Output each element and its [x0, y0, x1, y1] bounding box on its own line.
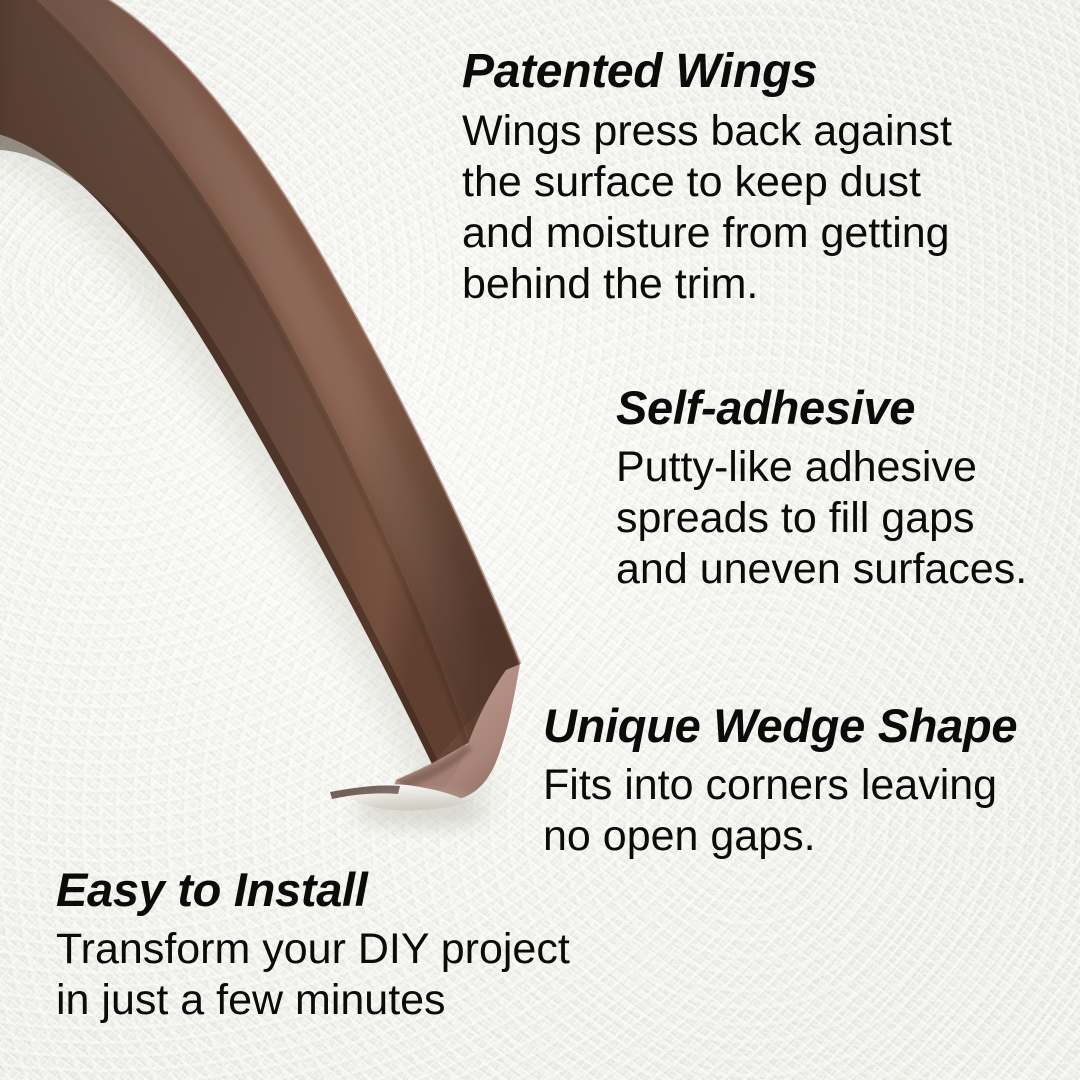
callout-heading-patented-wings: Patented Wings — [462, 44, 982, 100]
callout-body-self-adhesive: Putty-like adhesive spreads to fill gaps… — [616, 442, 1046, 595]
callout-self-adhesive: Self-adhesive Putty-like adhesive spread… — [616, 380, 1046, 595]
callout-patented-wings: Patented Wings Wings press back against … — [462, 44, 982, 310]
callout-heading-easy-to-install: Easy to Install — [56, 862, 576, 918]
callout-heading-unique-wedge-shape: Unique Wedge Shape — [543, 698, 1063, 754]
callout-easy-to-install: Easy to Install Transform your DIY proje… — [56, 862, 576, 1026]
callout-unique-wedge-shape: Unique Wedge Shape Fits into corners lea… — [543, 698, 1063, 862]
callout-heading-self-adhesive: Self-adhesive — [616, 380, 1046, 436]
callout-body-patented-wings: Wings press back against the surface to … — [462, 106, 982, 310]
callout-body-unique-wedge-shape: Fits into corners leaving no open gaps. — [543, 760, 1063, 862]
callout-body-easy-to-install: Transform your DIY project in just a few… — [56, 924, 576, 1026]
infographic-canvas: Patented Wings Wings press back against … — [0, 0, 1080, 1080]
